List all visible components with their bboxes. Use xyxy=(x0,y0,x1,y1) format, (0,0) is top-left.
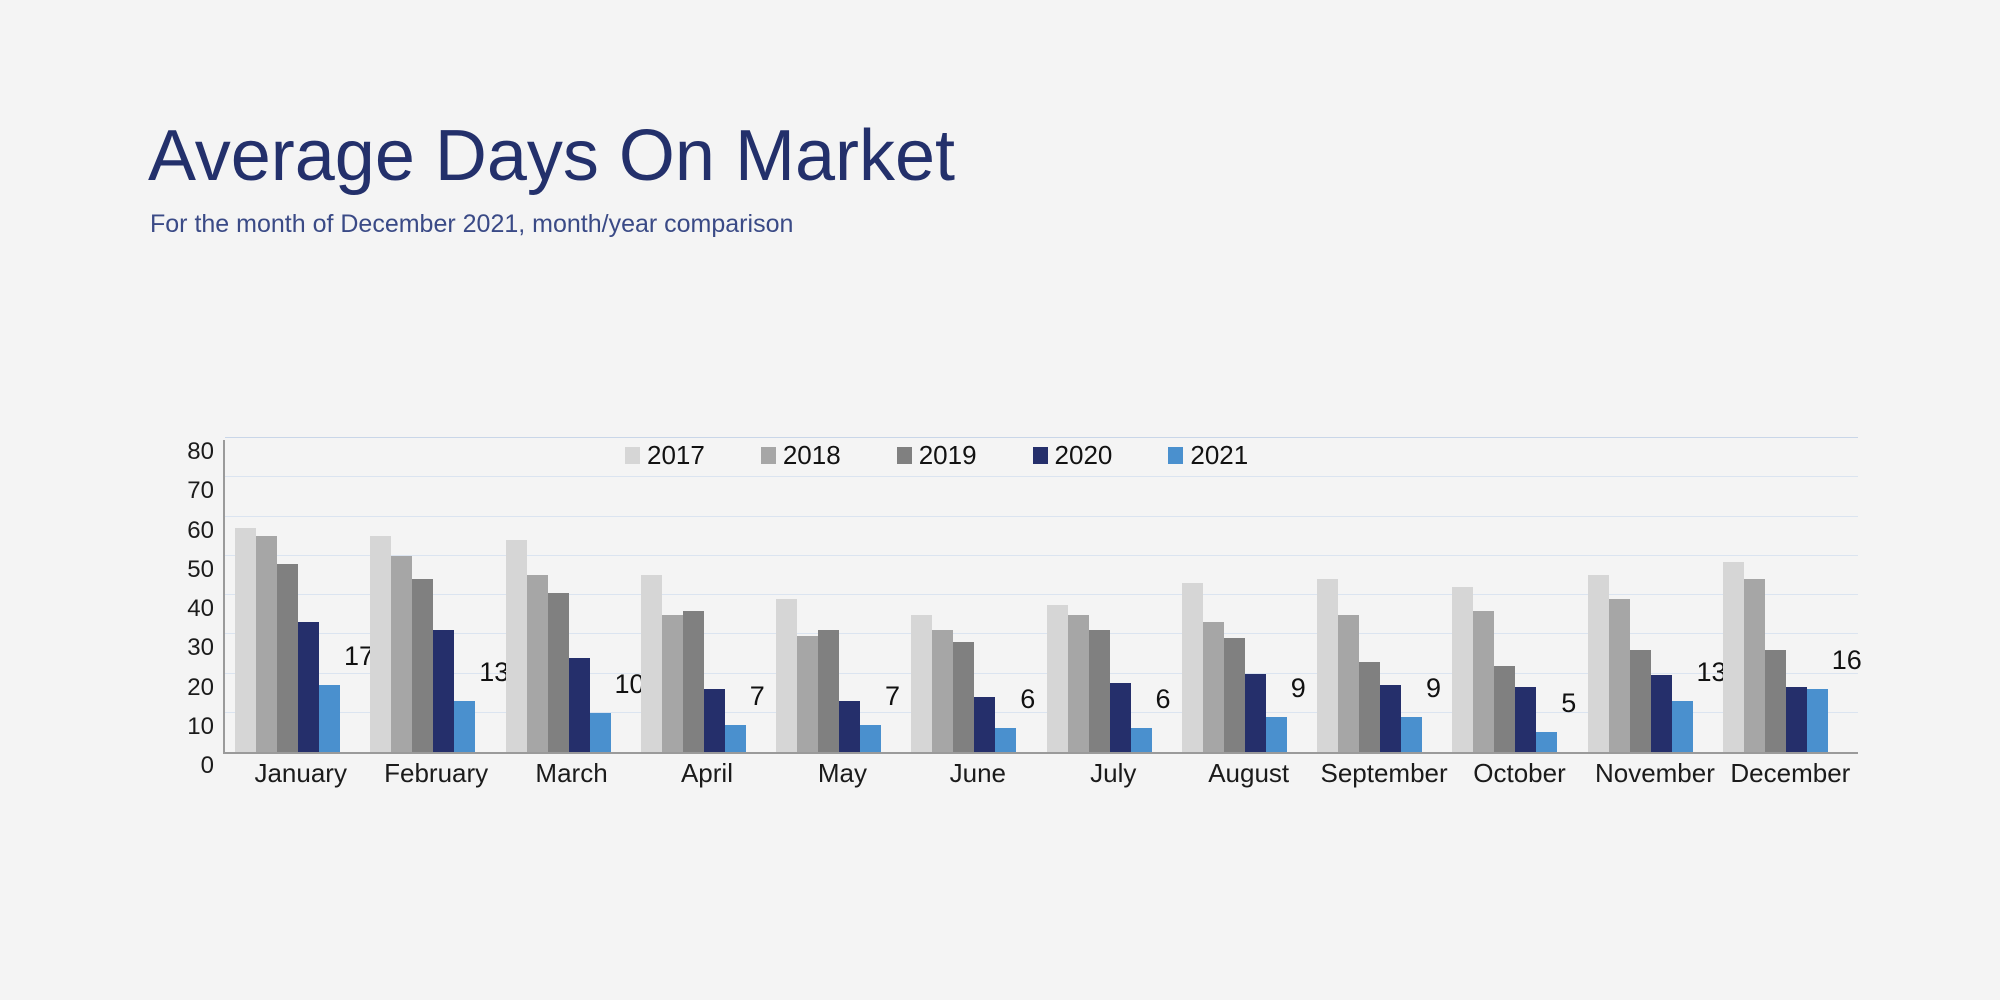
bar-groups: 17131077669951316 xyxy=(225,440,1858,752)
bar-2020-september[interactable] xyxy=(1380,685,1401,752)
legend-item-2021[interactable]: 2021 xyxy=(1168,442,1248,468)
bar-2018-june[interactable] xyxy=(932,630,953,752)
bar-2021-october[interactable]: 5 xyxy=(1536,732,1557,752)
bar-2020-january[interactable] xyxy=(298,622,319,752)
bar-2018-april[interactable] xyxy=(662,615,683,752)
bar-value-label: 9 xyxy=(1291,675,1306,702)
x-axis-tick-august: August xyxy=(1181,760,1316,800)
legend: 20172018201920202021 xyxy=(625,442,1248,468)
bar-group-august: 9 xyxy=(1182,440,1317,752)
plot-area: 20172018201920202021 17131077669951316 xyxy=(223,440,1858,754)
bar-2017-july[interactable] xyxy=(1047,605,1068,752)
legend-label: 2017 xyxy=(647,442,705,468)
x-axis: JanuaryFebruaryMarchAprilMayJuneJulyAugu… xyxy=(233,760,1858,800)
bar-value-label: 9 xyxy=(1426,675,1441,702)
x-axis-tick-march: March xyxy=(504,760,639,800)
bar-2019-july[interactable] xyxy=(1089,630,1110,752)
bar-2017-october[interactable] xyxy=(1452,587,1473,752)
bar-2021-november[interactable]: 13 xyxy=(1672,701,1693,752)
bar-2018-february[interactable] xyxy=(391,556,412,752)
bar-group-november: 13 xyxy=(1588,440,1723,752)
x-axis-tick-june: June xyxy=(910,760,1045,800)
bar-2020-november[interactable] xyxy=(1651,675,1672,752)
bar-2017-march[interactable] xyxy=(506,540,527,752)
x-axis-tick-january: January xyxy=(233,760,368,800)
legend-label: 2021 xyxy=(1190,442,1248,468)
bar-2019-june[interactable] xyxy=(953,642,974,752)
legend-item-2018[interactable]: 2018 xyxy=(761,442,841,468)
x-axis-tick-july: July xyxy=(1046,760,1181,800)
bar-2017-january[interactable] xyxy=(235,528,256,752)
bar-chart: 01020304050607080 20172018201920202021 1… xyxy=(148,424,1858,794)
bar-2021-february[interactable]: 13 xyxy=(454,701,475,752)
bar-2020-july[interactable] xyxy=(1110,683,1131,752)
bar-2020-february[interactable] xyxy=(433,630,454,752)
bar-value-label: 6 xyxy=(1020,686,1035,713)
bar-2019-february[interactable] xyxy=(412,579,433,752)
legend-item-2017[interactable]: 2017 xyxy=(625,442,705,468)
bar-2017-may[interactable] xyxy=(776,599,797,752)
bar-2021-march[interactable]: 10 xyxy=(590,713,611,752)
bar-2017-december[interactable] xyxy=(1723,562,1744,752)
bar-group-march: 10 xyxy=(506,440,641,752)
bar-2019-september[interactable] xyxy=(1359,662,1380,752)
x-axis-tick-may: May xyxy=(775,760,910,800)
page-title: Average Days On Market xyxy=(148,120,1548,192)
bar-2020-june[interactable] xyxy=(974,697,995,752)
chart-header: Average Days On Market For the month of … xyxy=(148,120,1548,239)
page-subtitle: For the month of December 2021, month/ye… xyxy=(150,210,1548,239)
bar-group-february: 13 xyxy=(370,440,505,752)
bar-value-label: 7 xyxy=(750,683,765,710)
legend-item-2020[interactable]: 2020 xyxy=(1033,442,1113,468)
bar-2021-december[interactable]: 16 xyxy=(1807,689,1828,752)
legend-swatch-icon xyxy=(625,447,640,464)
bar-2021-september[interactable]: 9 xyxy=(1401,717,1422,752)
x-axis-tick-february: February xyxy=(368,760,503,800)
bar-group-january: 17 xyxy=(235,440,370,752)
bar-2019-october[interactable] xyxy=(1494,666,1515,752)
bar-2018-november[interactable] xyxy=(1609,599,1630,752)
bar-2017-february[interactable] xyxy=(370,536,391,752)
bar-2020-october[interactable] xyxy=(1515,687,1536,752)
bar-group-july: 6 xyxy=(1047,440,1182,752)
bar-value-label: 6 xyxy=(1156,686,1171,713)
bar-2020-march[interactable] xyxy=(569,658,590,752)
bar-value-label: 16 xyxy=(1832,647,1862,674)
bar-2018-july[interactable] xyxy=(1068,615,1089,752)
bar-2019-december[interactable] xyxy=(1765,650,1786,752)
legend-item-2019[interactable]: 2019 xyxy=(897,442,977,468)
bar-group-december: 16 xyxy=(1723,440,1858,752)
bar-2017-june[interactable] xyxy=(911,615,932,752)
x-axis-tick-october: October xyxy=(1452,760,1587,800)
legend-label: 2019 xyxy=(919,442,977,468)
x-axis-tick-november: November xyxy=(1587,760,1722,800)
bar-2017-september[interactable] xyxy=(1317,579,1338,752)
y-axis: 01020304050607080 xyxy=(148,440,214,754)
bar-2020-august[interactable] xyxy=(1245,674,1266,753)
bar-2017-april[interactable] xyxy=(641,575,662,752)
bar-2021-january[interactable]: 17 xyxy=(319,685,340,752)
bar-2017-november[interactable] xyxy=(1588,575,1609,752)
bar-group-april: 7 xyxy=(641,440,776,752)
bar-group-october: 5 xyxy=(1452,440,1587,752)
bar-group-may: 7 xyxy=(776,440,911,752)
bar-2021-july[interactable]: 6 xyxy=(1131,728,1152,752)
gridline xyxy=(225,437,1858,438)
bar-2020-may[interactable] xyxy=(839,701,860,752)
legend-label: 2018 xyxy=(783,442,841,468)
legend-swatch-icon xyxy=(897,447,912,464)
bar-2019-january[interactable] xyxy=(277,564,298,752)
bar-2018-december[interactable] xyxy=(1744,579,1765,752)
bar-2020-december[interactable] xyxy=(1786,687,1807,752)
bar-group-june: 6 xyxy=(911,440,1046,752)
bar-2019-march[interactable] xyxy=(548,593,569,752)
bar-2019-august[interactable] xyxy=(1224,638,1245,752)
legend-swatch-icon xyxy=(761,447,776,464)
bar-2018-january[interactable] xyxy=(256,536,277,752)
bar-2020-april[interactable] xyxy=(704,689,725,752)
bar-2018-may[interactable] xyxy=(797,636,818,752)
bar-2019-may[interactable] xyxy=(818,630,839,752)
bar-value-label: 7 xyxy=(885,683,900,710)
legend-swatch-icon xyxy=(1033,447,1048,464)
x-axis-tick-september: September xyxy=(1316,760,1451,800)
bar-2019-april[interactable] xyxy=(683,611,704,752)
bar-2021-june[interactable]: 6 xyxy=(995,728,1016,752)
bar-2021-april[interactable]: 7 xyxy=(725,725,746,752)
bar-2018-september[interactable] xyxy=(1338,615,1359,752)
bar-2018-march[interactable] xyxy=(527,575,548,752)
bar-value-label: 5 xyxy=(1561,690,1576,717)
bar-2021-august[interactable]: 9 xyxy=(1266,717,1287,752)
x-axis-tick-december: December xyxy=(1723,760,1858,800)
bar-2018-august[interactable] xyxy=(1203,622,1224,752)
x-axis-tick-april: April xyxy=(639,760,774,800)
bar-2017-august[interactable] xyxy=(1182,583,1203,752)
legend-label: 2020 xyxy=(1055,442,1113,468)
bar-group-september: 9 xyxy=(1317,440,1452,752)
bar-2018-october[interactable] xyxy=(1473,611,1494,752)
bar-2019-november[interactable] xyxy=(1630,650,1651,752)
legend-swatch-icon xyxy=(1168,447,1183,464)
bar-2021-may[interactable]: 7 xyxy=(860,725,881,752)
